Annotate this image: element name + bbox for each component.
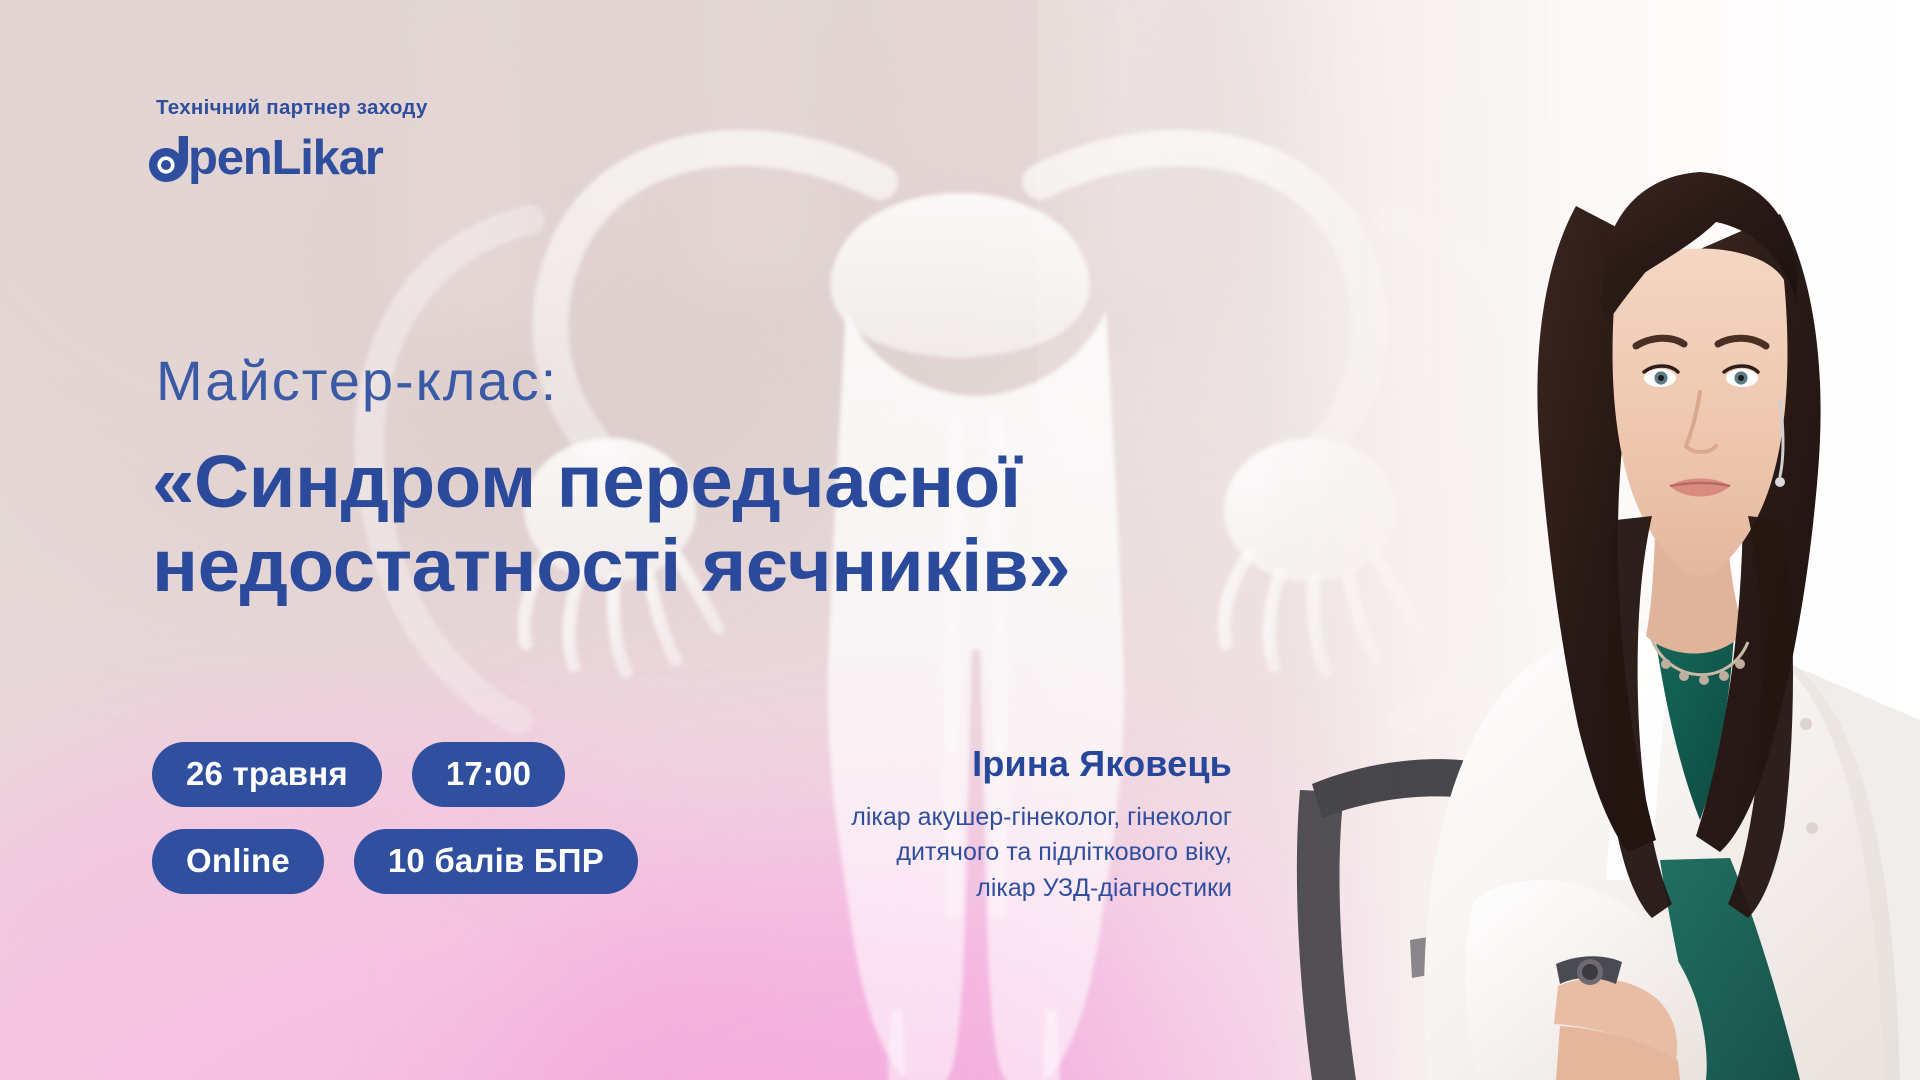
speaker-block: Ірина Яковець лікар акушер-гінеколог, гі… <box>762 744 1232 906</box>
partner-label: Технічний партнер заходу <box>156 96 572 120</box>
badge-time[interactable]: 17:00 <box>412 742 565 807</box>
brand-block: Технічний партнер заходу penLikar <box>152 96 572 184</box>
speaker-name: Ірина Яковець <box>762 744 1232 784</box>
openlikar-logo[interactable]: penLikar <box>148 132 572 184</box>
event-title-line: «Синдром передчасної <box>152 440 1316 524</box>
speaker-credential-line: лікар УЗД-діагностики <box>762 871 1232 907</box>
badge-format[interactable]: Online <box>152 829 324 894</box>
speaker-credential-line: лікар акушер-гінеколог, гінеколог <box>762 800 1232 836</box>
speaker-credentials: лікар акушер-гінеколог, гінеколог дитячо… <box>762 800 1232 907</box>
speaker-credential-line: дитячого та підліткового віку, <box>762 835 1232 871</box>
openlikar-wordmark: penLikar <box>188 134 383 183</box>
promo-banner: Технічний партнер заходу penLikar Майсте… <box>0 0 1920 1080</box>
badge-credits[interactable]: 10 балів БПР <box>354 829 638 894</box>
event-title-line: недостатності яєчників» <box>152 524 1316 608</box>
event-meta-badges: 26 травня 17:00 Online 10 балів БПР <box>152 742 752 894</box>
event-type-kicker: Майстер-клас: <box>156 348 558 413</box>
badge-date[interactable]: 26 травня <box>152 742 382 807</box>
event-title: «Синдром передчасної недостатності яєчни… <box>152 440 1282 607</box>
